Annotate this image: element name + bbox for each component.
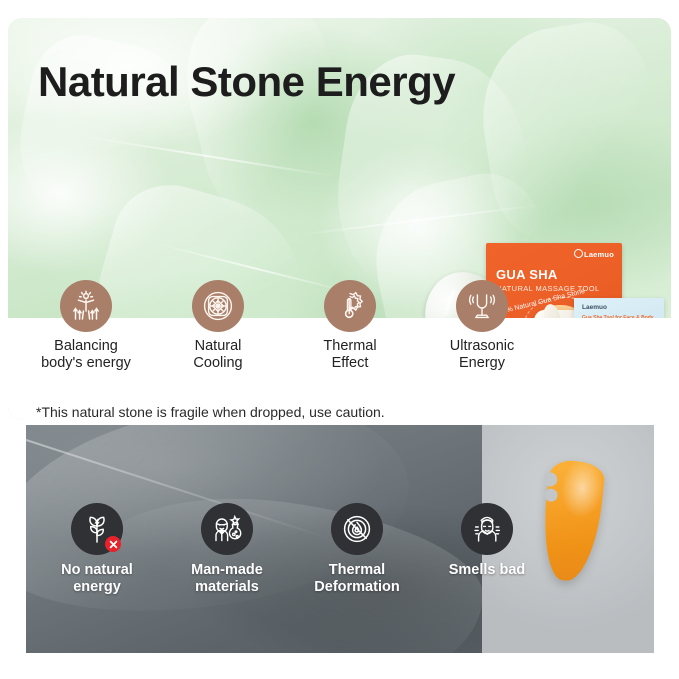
benefit-label: Natural Cooling <box>166 338 270 372</box>
benefit-label-line2: body's energy <box>34 355 138 372</box>
benefit-label-line1: Ultrasonic <box>430 338 534 355</box>
drawback-item-man-made-materials: Man-made materials <box>176 503 278 595</box>
benefit-item-ultrasonic-energy: Ultrasonic Energy <box>430 280 534 372</box>
gua-sha-notch-lower <box>544 488 558 502</box>
card-brand-name: Laemuo <box>582 304 607 311</box>
benefit-label-line2: Energy <box>430 355 534 372</box>
drawback-badge <box>461 503 513 555</box>
drawback-label: Man-made materials <box>176 562 278 595</box>
drawback-item-no-natural-energy: No natural energy <box>46 503 148 595</box>
benefit-label: Balancing body's energy <box>34 338 138 372</box>
benefit-badge <box>456 280 508 332</box>
benefit-label: Ultrasonic Energy <box>430 338 534 372</box>
gua-sha-notch-upper <box>542 472 557 487</box>
scientist-flask-icon <box>210 512 244 546</box>
benefit-item-thermal-effect: Thermal Effect <box>298 280 402 372</box>
drawback-label: Smells bad <box>436 562 538 579</box>
drawback-badge <box>331 503 383 555</box>
benefit-label-line1: Thermal <box>298 338 402 355</box>
drawback-label-line1: No natural <box>46 562 148 579</box>
benefit-label-line1: Balancing <box>34 338 138 355</box>
benefits-row: Balancing body's energy <box>34 280 534 372</box>
drawback-label: No natural energy <box>46 562 148 595</box>
drawback-item-thermal-deformation: Thermal Deformation <box>306 503 408 595</box>
drawback-item-smells-bad: Smells bad <box>436 503 538 579</box>
benefit-badge <box>60 280 112 332</box>
natural-stone-hero-panel: Natural Stone Energy Laemuo Laemuo GUA S… <box>8 18 671 420</box>
comparison-bottom-panel: No natural energy <box>26 425 654 653</box>
no-flame-icon <box>340 512 374 546</box>
drawback-label-line2: Deformation <box>306 579 408 596</box>
drawback-label-line1: Thermal <box>306 562 408 579</box>
benefit-label: Thermal Effect <box>298 338 402 372</box>
snowflake-cooling-icon <box>201 289 235 323</box>
drawback-label-line2: materials <box>176 579 278 596</box>
drawback-badge <box>71 503 123 555</box>
box-brand-logo: Laemuo <box>574 249 614 259</box>
benefit-badge <box>192 280 244 332</box>
caution-note: *This natural stone is fragile when drop… <box>36 404 385 420</box>
thermometer-heat-icon <box>333 289 367 323</box>
balancing-energy-icon <box>69 289 103 323</box>
box-brand-name: Laemuo <box>584 250 614 259</box>
drawback-label-line2: energy <box>46 579 148 596</box>
orange-resin-gua-sha <box>538 459 606 584</box>
benefit-label-line1: Natural <box>166 338 270 355</box>
benefit-item-balancing-energy: Balancing body's energy <box>34 280 138 372</box>
drawback-badge <box>201 503 253 555</box>
benefit-badge <box>324 280 376 332</box>
x-mark-badge <box>105 536 121 552</box>
drawback-label-line1: Man-made <box>176 562 278 579</box>
close-icon <box>109 540 118 549</box>
page-title: Natural Stone Energy <box>38 58 455 106</box>
tuning-fork-ultrasonic-icon <box>465 289 499 323</box>
benefit-item-natural-cooling: Natural Cooling <box>166 280 270 372</box>
drawbacks-row: No natural energy <box>46 503 538 595</box>
drawback-label-line1: Smells bad <box>436 562 538 579</box>
benefit-label-line2: Cooling <box>166 355 270 372</box>
drawback-label: Thermal Deformation <box>306 562 408 595</box>
bad-smell-person-icon <box>470 512 504 546</box>
benefit-label-line2: Effect <box>298 355 402 372</box>
